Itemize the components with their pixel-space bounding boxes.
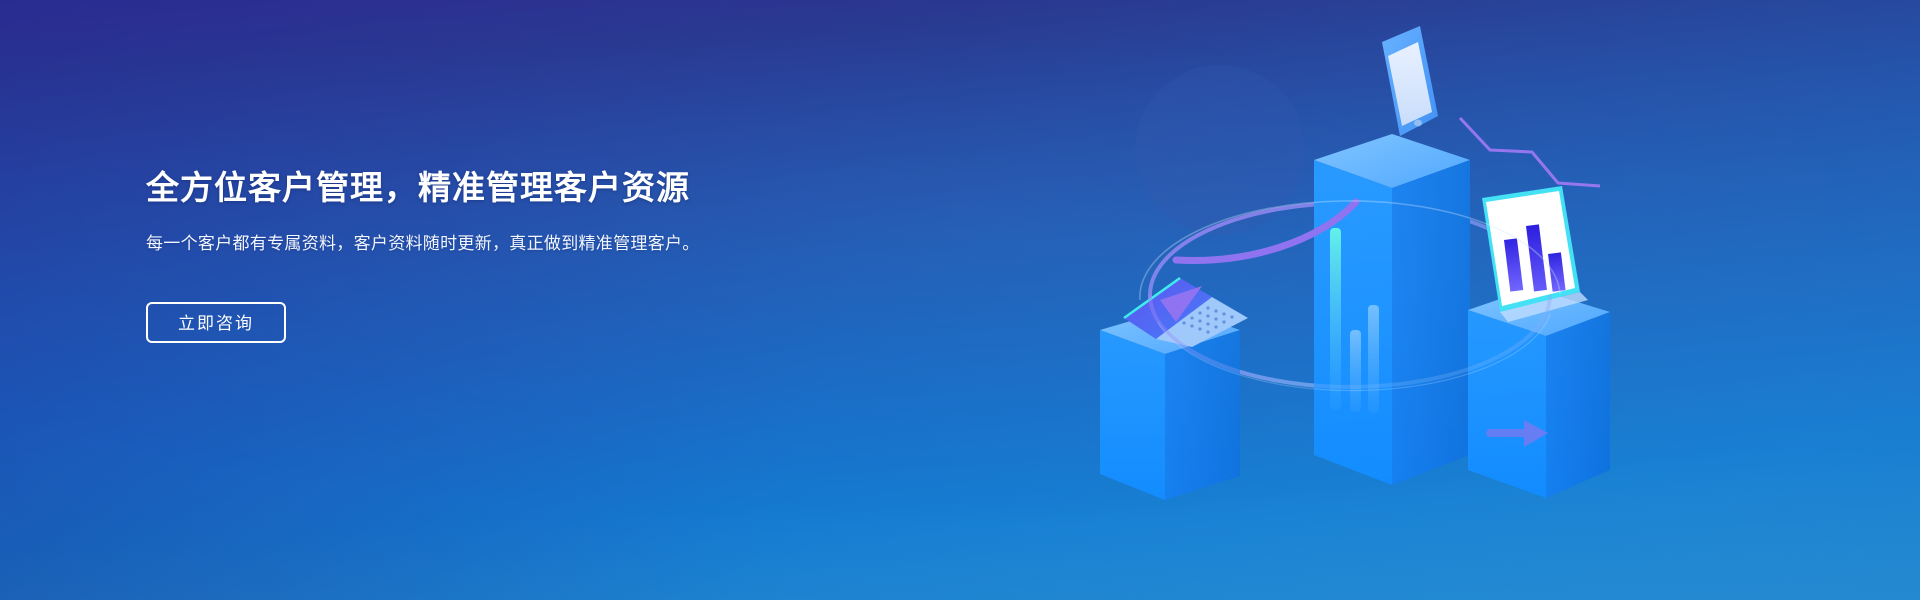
center-pedestal <box>1314 134 1470 485</box>
pillar-inner-bar-2 <box>1350 330 1361 412</box>
hero-copy: 全方位客户管理，精准管理客户资源 每一个客户都有专属资料，客户资料随时更新，真正… <box>146 168 786 343</box>
line-path <box>1460 118 1600 186</box>
illustration <box>1080 0 1640 600</box>
right-pedestal <box>1468 288 1610 498</box>
tablet <box>1382 26 1438 136</box>
page-title: 全方位客户管理，精准管理客户资源 <box>146 168 786 208</box>
consult-now-button[interactable]: 立即咨询 <box>146 302 286 343</box>
pillar-inner-bar-1 <box>1330 228 1341 410</box>
hero-subtitle: 每一个客户都有专属资料，客户资料随时更新，真正做到精准管理客户。 <box>146 230 736 258</box>
hero-banner: 全方位客户管理，精准管理客户资源 每一个客户都有专属资料，客户资料随时更新，真正… <box>0 0 1920 600</box>
pillar-inner-bar-3 <box>1368 305 1379 413</box>
